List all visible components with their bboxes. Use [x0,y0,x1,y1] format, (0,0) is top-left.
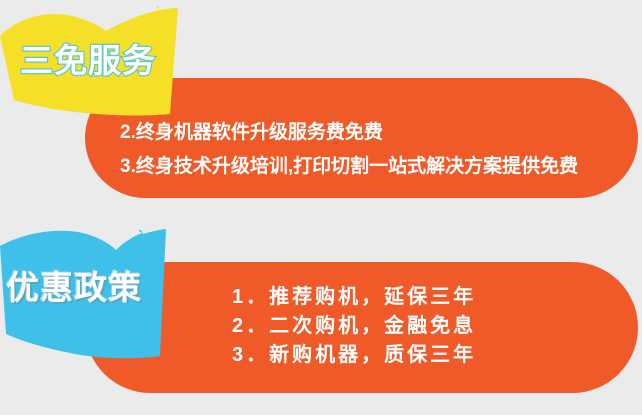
promo-section-three-free: 三免服务 2.终身机器软件升级服务费免费 3.终身技术升级培训,打印切割一站式解… [0,0,642,210]
card-text-three-free: 2.终身机器软件升级服务费免费 3.终身技术升级培训,打印切割一站式解决方案提供… [120,116,578,184]
promo-poster: 三免服务 2.终身机器软件升级服务费免费 3.终身技术升级培训,打印切割一站式解… [0,0,642,415]
card-line: 2.终身机器软件升级服务费免费 [120,116,578,150]
card-line: 3.终身技术升级培训,打印切割一站式解决方案提供免费 [120,150,578,184]
card-line: 3．新购机器，质保三年 [232,341,476,370]
section-title-three-free: 三免服务 [20,44,156,77]
card-line: 1．推荐购机，延保三年 [232,283,476,312]
section-title-discount-policy: 优惠政策 [6,271,142,304]
card-text-discount-policy: 1．推荐购机，延保三年 2．二次购机，金融免息 3．新购机器，质保三年 [232,283,476,370]
card-line: 2．二次购机，金融免息 [232,312,476,341]
